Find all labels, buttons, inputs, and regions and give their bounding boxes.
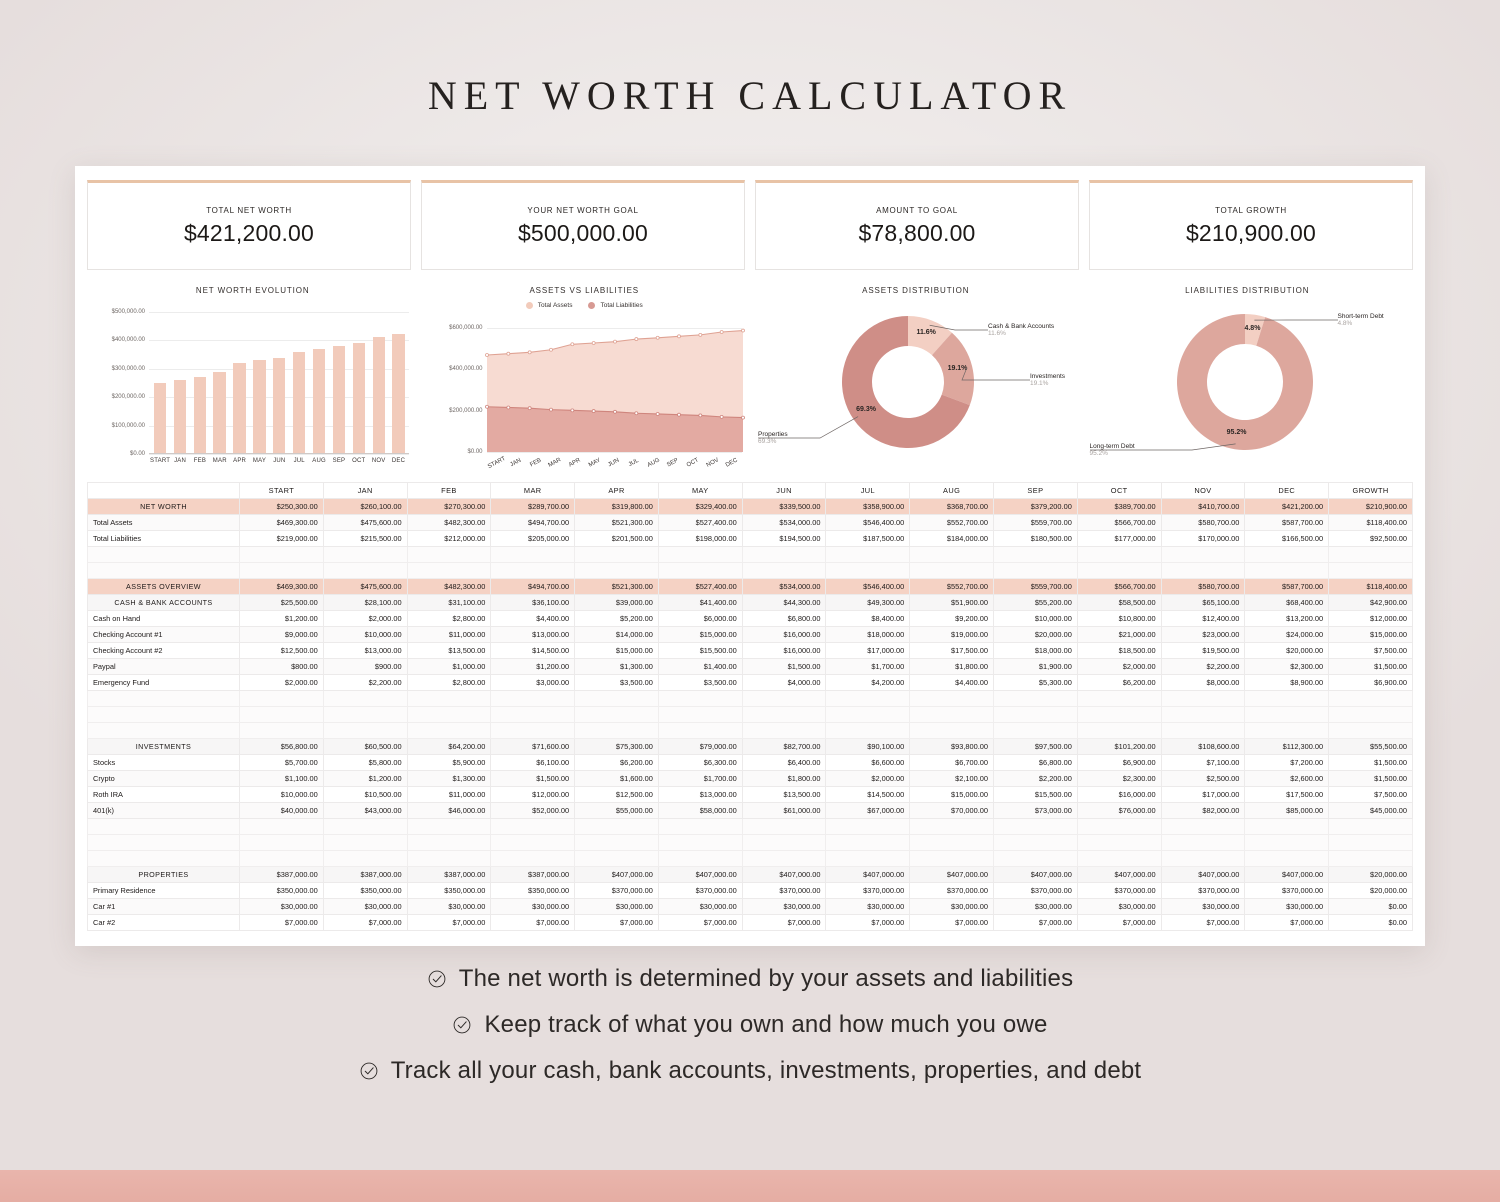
row-label[interactable]: Total Liabilities [88, 531, 240, 547]
table-cell[interactable]: $475,600.00 [323, 515, 407, 531]
table-cell[interactable] [826, 723, 910, 739]
table-cell[interactable]: $12,000.00 [1329, 611, 1413, 627]
table-cell[interactable] [910, 563, 994, 579]
bar-apr[interactable] [233, 363, 245, 454]
table-cell[interactable]: $30,000.00 [910, 899, 994, 915]
row-label[interactable]: Emergency Fund [88, 675, 240, 691]
table-cell[interactable] [1329, 563, 1413, 579]
table-cell[interactable] [1077, 851, 1161, 867]
table-cell[interactable]: $30,000.00 [407, 899, 491, 915]
table-cell[interactable]: $482,300.00 [407, 515, 491, 531]
table-cell[interactable]: $79,000.00 [658, 739, 742, 755]
table-cell[interactable]: $534,000.00 [742, 515, 826, 531]
bar-aug[interactable] [313, 349, 325, 454]
table-cell[interactable]: $3,500.00 [658, 675, 742, 691]
row-label[interactable]: Crypto [88, 771, 240, 787]
table-cell[interactable]: $6,200.00 [1077, 675, 1161, 691]
table-cell[interactable]: $52,000.00 [491, 803, 575, 819]
table-cell[interactable] [994, 707, 1078, 723]
table-cell[interactable] [910, 819, 994, 835]
table-cell[interactable]: $482,300.00 [407, 579, 491, 595]
table-cell[interactable] [826, 835, 910, 851]
table-cell[interactable]: $42,900.00 [1329, 595, 1413, 611]
bar-nov[interactable] [373, 337, 385, 454]
table-cell[interactable]: $194,500.00 [742, 531, 826, 547]
table-row[interactable]: Car #1$30,000.00$30,000.00$30,000.00$30,… [88, 899, 1413, 915]
bar-jan[interactable] [174, 380, 186, 454]
table-cell[interactable] [1077, 707, 1161, 723]
table-cell[interactable] [407, 851, 491, 867]
table-cell[interactable] [1245, 835, 1329, 851]
table-cell[interactable]: $101,200.00 [1077, 739, 1161, 755]
table-cell[interactable] [407, 563, 491, 579]
table-cell[interactable]: $17,000.00 [826, 643, 910, 659]
table-cell[interactable] [742, 707, 826, 723]
table-cell[interactable]: $75,300.00 [575, 739, 659, 755]
table-cell[interactable]: $30,000.00 [994, 899, 1078, 915]
table-cell[interactable] [323, 851, 407, 867]
kpi-card-total-net-worth[interactable]: TOTAL NET WORTH $421,200.00 [87, 180, 411, 270]
table-cell[interactable]: $3,500.00 [575, 675, 659, 691]
row-label[interactable]: 401(k) [88, 803, 240, 819]
table-cell[interactable]: $12,500.00 [575, 787, 659, 803]
table-cell[interactable] [1161, 691, 1245, 707]
table-cell[interactable] [658, 547, 742, 563]
table-cell[interactable]: $1,500.00 [742, 659, 826, 675]
table-cell[interactable]: $15,000.00 [910, 787, 994, 803]
table-cell[interactable]: $2,500.00 [1161, 771, 1245, 787]
bar-start[interactable] [154, 383, 166, 454]
table-cell[interactable]: $61,000.00 [742, 803, 826, 819]
table-cell[interactable] [1245, 723, 1329, 739]
table-cell[interactable]: $13,500.00 [407, 643, 491, 659]
table-cell[interactable]: $521,300.00 [575, 579, 659, 595]
table-cell[interactable]: $329,400.00 [658, 499, 742, 515]
row-label[interactable] [88, 835, 240, 851]
row-label[interactable] [88, 707, 240, 723]
table-cell[interactable]: $1,500.00 [491, 771, 575, 787]
table-cell[interactable] [1329, 691, 1413, 707]
row-label[interactable]: NET WORTH [88, 499, 240, 515]
table-cell[interactable] [1161, 851, 1245, 867]
table-cell[interactable]: $10,000.00 [323, 627, 407, 643]
table-cell[interactable]: $260,100.00 [323, 499, 407, 515]
table-cell[interactable] [1077, 691, 1161, 707]
table-cell[interactable]: $30,000.00 [491, 899, 575, 915]
table-cell[interactable]: $108,600.00 [1161, 739, 1245, 755]
table-cell[interactable]: $4,400.00 [491, 611, 575, 627]
table-cell[interactable] [491, 835, 575, 851]
table-cell[interactable] [491, 547, 575, 563]
table-blank-row[interactable] [88, 835, 1413, 851]
table-cell[interactable]: $2,800.00 [407, 611, 491, 627]
table-cell[interactable]: $45,000.00 [1329, 803, 1413, 819]
table-cell[interactable] [826, 547, 910, 563]
table-cell[interactable]: $19,000.00 [910, 627, 994, 643]
table-cell[interactable]: $5,700.00 [240, 755, 324, 771]
table-cell[interactable]: $370,000.00 [994, 883, 1078, 899]
table-cell[interactable] [1161, 563, 1245, 579]
table-cell[interactable] [240, 547, 324, 563]
bar-mar[interactable] [213, 372, 225, 454]
table-cell[interactable]: $6,800.00 [742, 611, 826, 627]
table-cell[interactable] [994, 835, 1078, 851]
table-cell[interactable] [323, 819, 407, 835]
table-cell[interactable]: $20,000.00 [1329, 883, 1413, 899]
row-label[interactable]: Checking Account #1 [88, 627, 240, 643]
table-cell[interactable]: $387,000.00 [240, 867, 324, 883]
table-cell[interactable] [323, 707, 407, 723]
table-cell[interactable]: $587,700.00 [1245, 579, 1329, 595]
table-cell[interactable] [658, 835, 742, 851]
bar-column[interactable] [269, 312, 289, 454]
kpi-card-total-growth[interactable]: TOTAL GROWTH $210,900.00 [1089, 180, 1413, 270]
table-cell[interactable] [1329, 547, 1413, 563]
bar-dec[interactable] [392, 334, 404, 454]
table-cell[interactable]: $65,100.00 [1161, 595, 1245, 611]
table-row[interactable]: Checking Account #1$9,000.00$10,000.00$1… [88, 627, 1413, 643]
table-cell[interactable]: $21,000.00 [1077, 627, 1161, 643]
table-cell[interactable]: $11,000.00 [407, 787, 491, 803]
row-label[interactable]: Paypal [88, 659, 240, 675]
table-blank-row[interactable] [88, 563, 1413, 579]
table-cell[interactable]: $184,000.00 [910, 531, 994, 547]
table-cell[interactable]: $7,000.00 [323, 915, 407, 931]
table-blank-row[interactable] [88, 691, 1413, 707]
table-row[interactable]: CASH & BANK ACCOUNTS$25,500.00$28,100.00… [88, 595, 1413, 611]
table-cell[interactable]: $2,200.00 [994, 771, 1078, 787]
table-cell[interactable]: $201,500.00 [575, 531, 659, 547]
table-cell[interactable] [1329, 707, 1413, 723]
table-cell[interactable]: $546,400.00 [826, 579, 910, 595]
table-cell[interactable]: $7,000.00 [826, 915, 910, 931]
table-cell[interactable]: $15,500.00 [994, 787, 1078, 803]
table-cell[interactable] [1077, 819, 1161, 835]
table-cell[interactable] [1077, 563, 1161, 579]
table-cell[interactable]: $13,000.00 [323, 643, 407, 659]
table-cell[interactable]: $370,000.00 [742, 883, 826, 899]
table-cell[interactable]: $13,000.00 [658, 787, 742, 803]
table-cell[interactable] [407, 819, 491, 835]
table-cell[interactable]: $1,800.00 [910, 659, 994, 675]
table-cell[interactable]: $552,700.00 [910, 579, 994, 595]
table-cell[interactable]: $389,700.00 [1077, 499, 1161, 515]
table-cell[interactable]: $55,200.00 [994, 595, 1078, 611]
table-cell[interactable] [407, 835, 491, 851]
table-cell[interactable]: $41,400.00 [658, 595, 742, 611]
bar-column[interactable] [289, 312, 309, 454]
table-cell[interactable]: $212,000.00 [407, 531, 491, 547]
table-cell[interactable]: $7,000.00 [910, 915, 994, 931]
table-blank-row[interactable] [88, 819, 1413, 835]
table-cell[interactable]: $250,300.00 [240, 499, 324, 515]
table-cell[interactable]: $358,900.00 [826, 499, 910, 515]
bar-column[interactable] [170, 312, 190, 454]
table-row[interactable]: 401(k)$40,000.00$43,000.00$46,000.00$52,… [88, 803, 1413, 819]
table-cell[interactable]: $6,400.00 [742, 755, 826, 771]
table-cell[interactable]: $370,000.00 [1077, 883, 1161, 899]
table-cell[interactable]: $170,000.00 [1161, 531, 1245, 547]
table-cell[interactable]: $6,700.00 [910, 755, 994, 771]
table-cell[interactable]: $469,300.00 [240, 579, 324, 595]
table-cell[interactable]: $93,800.00 [910, 739, 994, 755]
table-cell[interactable]: $12,000.00 [491, 787, 575, 803]
table-cell[interactable]: $1,600.00 [575, 771, 659, 787]
table-cell[interactable]: $370,000.00 [1245, 883, 1329, 899]
table-blank-row[interactable] [88, 851, 1413, 867]
table-cell[interactable] [658, 723, 742, 739]
table-cell[interactable]: $30,000.00 [1077, 899, 1161, 915]
table-cell[interactable]: $67,000.00 [826, 803, 910, 819]
table-cell[interactable] [1245, 691, 1329, 707]
table-row[interactable]: Crypto$1,100.00$1,200.00$1,300.00$1,500.… [88, 771, 1413, 787]
table-cell[interactable] [910, 835, 994, 851]
table-cell[interactable]: $210,900.00 [1329, 499, 1413, 515]
table-cell[interactable]: $410,700.00 [1161, 499, 1245, 515]
table-cell[interactable] [240, 835, 324, 851]
table-cell[interactable] [407, 723, 491, 739]
bar-may[interactable] [253, 360, 265, 454]
table-cell[interactable] [658, 707, 742, 723]
table-cell[interactable] [1329, 723, 1413, 739]
table-cell[interactable]: $6,300.00 [658, 755, 742, 771]
table-cell[interactable]: $40,000.00 [240, 803, 324, 819]
table-cell[interactable]: $6,600.00 [826, 755, 910, 771]
chart-assets-vs-liabilities[interactable]: ASSETS VS LIABILITIES Total AssetsTotal … [419, 282, 751, 478]
table-cell[interactable]: $3,000.00 [491, 675, 575, 691]
table-row[interactable]: Checking Account #2$12,500.00$13,000.00$… [88, 643, 1413, 659]
table-cell[interactable]: $559,700.00 [994, 579, 1078, 595]
table-cell[interactable] [240, 563, 324, 579]
table-cell[interactable] [1245, 851, 1329, 867]
table-row[interactable]: Emergency Fund$2,000.00$2,200.00$2,800.0… [88, 675, 1413, 691]
table-cell[interactable]: $2,200.00 [323, 675, 407, 691]
table-cell[interactable] [1245, 819, 1329, 835]
table-cell[interactable] [491, 707, 575, 723]
table-cell[interactable] [742, 819, 826, 835]
table-cell[interactable]: $587,700.00 [1245, 515, 1329, 531]
table-cell[interactable]: $289,700.00 [491, 499, 575, 515]
table-cell[interactable]: $379,200.00 [994, 499, 1078, 515]
table-row[interactable]: INVESTMENTS$56,800.00$60,500.00$64,200.0… [88, 739, 1413, 755]
table-cell[interactable] [826, 707, 910, 723]
bar-feb[interactable] [194, 377, 206, 454]
table-cell[interactable]: $494,700.00 [491, 515, 575, 531]
table-cell[interactable]: $1,100.00 [240, 771, 324, 787]
table-cell[interactable]: $370,000.00 [1161, 883, 1245, 899]
table-cell[interactable]: $7,000.00 [240, 915, 324, 931]
table-cell[interactable]: $6,900.00 [1077, 755, 1161, 771]
table-cell[interactable]: $370,000.00 [658, 883, 742, 899]
table-cell[interactable] [1077, 835, 1161, 851]
table-cell[interactable] [1161, 707, 1245, 723]
table-cell[interactable]: $177,000.00 [1077, 531, 1161, 547]
table-cell[interactable]: $1,900.00 [994, 659, 1078, 675]
table-cell[interactable]: $64,200.00 [407, 739, 491, 755]
table-cell[interactable]: $6,100.00 [491, 755, 575, 771]
table-cell[interactable]: $49,300.00 [826, 595, 910, 611]
table-cell[interactable]: $85,000.00 [1245, 803, 1329, 819]
table-cell[interactable]: $18,500.00 [1077, 643, 1161, 659]
table-cell[interactable]: $58,000.00 [658, 803, 742, 819]
table-cell[interactable]: $580,700.00 [1161, 579, 1245, 595]
table-cell[interactable] [1245, 547, 1329, 563]
table-cell[interactable] [826, 563, 910, 579]
table-cell[interactable]: $2,000.00 [1077, 659, 1161, 675]
table-cell[interactable]: $13,500.00 [742, 787, 826, 803]
table-cell[interactable]: $12,500.00 [240, 643, 324, 659]
table-cell[interactable]: $1,700.00 [826, 659, 910, 675]
table-cell[interactable] [491, 691, 575, 707]
table-cell[interactable]: $30,000.00 [240, 899, 324, 915]
table-cell[interactable]: $475,600.00 [323, 579, 407, 595]
table-cell[interactable] [240, 691, 324, 707]
table-cell[interactable]: $368,700.00 [910, 499, 994, 515]
table-cell[interactable]: $12,400.00 [1161, 611, 1245, 627]
table-cell[interactable]: $10,500.00 [323, 787, 407, 803]
table-cell[interactable]: $407,000.00 [1161, 867, 1245, 883]
table-cell[interactable]: $350,000.00 [240, 883, 324, 899]
table-cell[interactable]: $2,300.00 [1077, 771, 1161, 787]
table-cell[interactable]: $552,700.00 [910, 515, 994, 531]
bar-column[interactable] [369, 312, 389, 454]
table-cell[interactable]: $118,400.00 [1329, 515, 1413, 531]
table-cell[interactable] [826, 819, 910, 835]
table-cell[interactable]: $2,000.00 [240, 675, 324, 691]
table-cell[interactable] [658, 819, 742, 835]
table-cell[interactable]: $407,000.00 [658, 867, 742, 883]
table-cell[interactable]: $407,000.00 [994, 867, 1078, 883]
table-cell[interactable]: $2,200.00 [1161, 659, 1245, 675]
table-cell[interactable] [1161, 819, 1245, 835]
table-cell[interactable]: $5,300.00 [994, 675, 1078, 691]
table-cell[interactable]: $118,400.00 [1329, 579, 1413, 595]
row-label[interactable]: CASH & BANK ACCOUNTS [88, 595, 240, 611]
table-row[interactable]: Total Assets$469,300.00$475,600.00$482,3… [88, 515, 1413, 531]
table-cell[interactable]: $44,300.00 [742, 595, 826, 611]
table-cell[interactable] [1161, 723, 1245, 739]
table-cell[interactable]: $15,000.00 [575, 643, 659, 659]
table-cell[interactable]: $387,000.00 [491, 867, 575, 883]
table-cell[interactable] [910, 851, 994, 867]
table-cell[interactable] [826, 851, 910, 867]
table-cell[interactable]: $10,000.00 [994, 611, 1078, 627]
table-cell[interactable]: $15,000.00 [1329, 627, 1413, 643]
table-cell[interactable]: $36,100.00 [491, 595, 575, 611]
table-cell[interactable]: $1,500.00 [1329, 755, 1413, 771]
table-cell[interactable]: $387,000.00 [407, 867, 491, 883]
table-cell[interactable]: $407,000.00 [1245, 867, 1329, 883]
table-cell[interactable]: $469,300.00 [240, 515, 324, 531]
table-cell[interactable] [1245, 563, 1329, 579]
table-cell[interactable] [575, 691, 659, 707]
table-cell[interactable]: $270,300.00 [407, 499, 491, 515]
table-row[interactable]: Car #2$7,000.00$7,000.00$7,000.00$7,000.… [88, 915, 1413, 931]
kpi-card-net-worth-goal[interactable]: YOUR NET WORTH GOAL $500,000.00 [421, 180, 745, 270]
row-label[interactable] [88, 851, 240, 867]
table-cell[interactable]: $4,200.00 [826, 675, 910, 691]
table-cell[interactable]: $319,800.00 [575, 499, 659, 515]
row-label[interactable]: Car #1 [88, 899, 240, 915]
table-blank-row[interactable] [88, 547, 1413, 563]
table-cell[interactable]: $17,000.00 [1161, 787, 1245, 803]
table-cell[interactable] [826, 691, 910, 707]
bar-column[interactable] [309, 312, 329, 454]
bar-column[interactable] [349, 312, 369, 454]
row-label[interactable]: Car #2 [88, 915, 240, 931]
table-cell[interactable]: $407,000.00 [826, 867, 910, 883]
table-cell[interactable]: $2,000.00 [323, 611, 407, 627]
table-row[interactable]: NET WORTH$250,300.00$260,100.00$270,300.… [88, 499, 1413, 515]
table-cell[interactable] [1077, 723, 1161, 739]
table-cell[interactable]: $527,400.00 [658, 579, 742, 595]
table-cell[interactable] [1329, 819, 1413, 835]
table-cell[interactable]: $205,000.00 [491, 531, 575, 547]
table-cell[interactable]: $198,000.00 [658, 531, 742, 547]
table-cell[interactable]: $92,500.00 [1329, 531, 1413, 547]
table-cell[interactable] [994, 563, 1078, 579]
row-label[interactable]: ASSETS OVERVIEW [88, 579, 240, 595]
table-cell[interactable]: $900.00 [323, 659, 407, 675]
table-cell[interactable] [491, 723, 575, 739]
table-cell[interactable]: $7,000.00 [1161, 915, 1245, 931]
bar-column[interactable] [389, 312, 409, 454]
row-label[interactable]: PROPERTIES [88, 867, 240, 883]
table-cell[interactable]: $25,500.00 [240, 595, 324, 611]
table-cell[interactable] [910, 691, 994, 707]
table-cell[interactable]: $7,500.00 [1329, 787, 1413, 803]
table-cell[interactable]: $6,200.00 [575, 755, 659, 771]
table-cell[interactable]: $494,700.00 [491, 579, 575, 595]
table-cell[interactable] [742, 563, 826, 579]
table-cell[interactable]: $580,700.00 [1161, 515, 1245, 531]
row-label[interactable] [88, 819, 240, 835]
table-cell[interactable]: $30,000.00 [742, 899, 826, 915]
table-cell[interactable]: $20,000.00 [1245, 643, 1329, 659]
row-label[interactable] [88, 723, 240, 739]
table-cell[interactable]: $30,000.00 [575, 899, 659, 915]
table-cell[interactable]: $14,500.00 [491, 643, 575, 659]
table-cell[interactable] [240, 723, 324, 739]
table-cell[interactable] [742, 723, 826, 739]
table-cell[interactable]: $7,000.00 [994, 915, 1078, 931]
table-cell[interactable]: $7,200.00 [1245, 755, 1329, 771]
table-cell[interactable]: $1,300.00 [575, 659, 659, 675]
bar-jul[interactable] [293, 352, 305, 454]
table-cell[interactable]: $10,800.00 [1077, 611, 1161, 627]
table-cell[interactable]: $1,200.00 [240, 611, 324, 627]
bar-jun[interactable] [273, 358, 285, 454]
table-row[interactable]: Stocks$5,700.00$5,800.00$5,900.00$6,100.… [88, 755, 1413, 771]
table-cell[interactable]: $2,800.00 [407, 675, 491, 691]
table-cell[interactable]: $39,000.00 [575, 595, 659, 611]
table-cell[interactable]: $70,000.00 [910, 803, 994, 819]
table-cell[interactable]: $407,000.00 [1077, 867, 1161, 883]
table-cell[interactable]: $15,500.00 [658, 643, 742, 659]
table-cell[interactable] [1161, 547, 1245, 563]
table-cell[interactable]: $1,000.00 [407, 659, 491, 675]
table-cell[interactable]: $43,000.00 [323, 803, 407, 819]
table-row[interactable]: Total Liabilities$219,000.00$215,500.00$… [88, 531, 1413, 547]
table-row[interactable]: Cash on Hand$1,200.00$2,000.00$2,800.00$… [88, 611, 1413, 627]
table-blank-row[interactable] [88, 707, 1413, 723]
table-cell[interactable]: $7,000.00 [407, 915, 491, 931]
table-cell[interactable]: $7,500.00 [1329, 643, 1413, 659]
bar-column[interactable] [329, 312, 349, 454]
table-cell[interactable]: $16,000.00 [1077, 787, 1161, 803]
table-cell[interactable]: $215,500.00 [323, 531, 407, 547]
table-cell[interactable]: $1,400.00 [658, 659, 742, 675]
